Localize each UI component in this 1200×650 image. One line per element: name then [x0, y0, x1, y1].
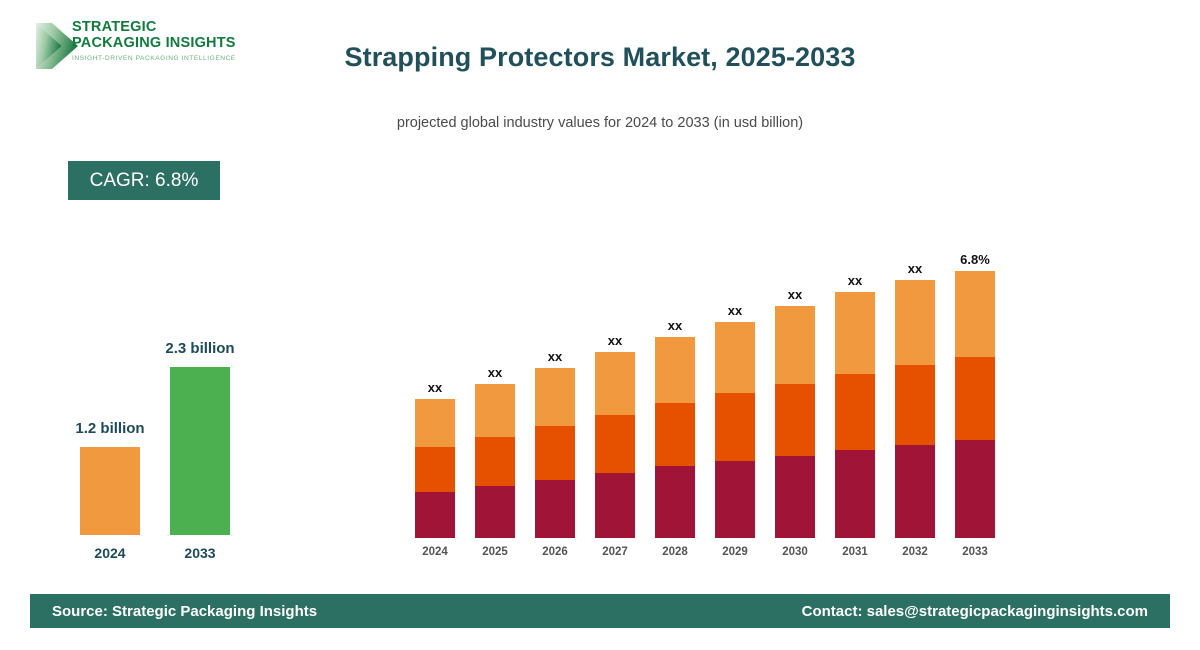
stacked-bar-segment [715, 393, 755, 462]
stacked-bar-group: xx2026 [535, 350, 575, 560]
stacked-bar-segment [955, 440, 995, 538]
endpoint-comparison-chart: 1.2 billion20242.3 billion2033 [60, 300, 260, 565]
stacked-bar-segment [775, 384, 815, 456]
page-title: Strapping Protectors Market, 2025-2033 [0, 42, 1200, 73]
stacked-bar [655, 337, 695, 538]
stacked-bar-group: xx2027 [595, 334, 635, 560]
stacked-bar-segment [475, 486, 515, 538]
stacked-bar-segment [835, 374, 875, 450]
stacked-bar-year-label: 2028 [645, 546, 705, 558]
stacked-bar-group: xx2025 [475, 366, 515, 560]
logo-line-1: STRATEGIC [72, 20, 236, 36]
cagr-badge: CAGR: 6.8% [68, 161, 220, 200]
stacked-bar-segment [415, 447, 455, 491]
comparison-bar-value-label: 1.2 billion [30, 420, 190, 437]
stacked-bar-segment [835, 450, 875, 538]
stacked-bar-group: xx2031 [835, 274, 875, 560]
comparison-bar-year-label: 2033 [170, 545, 230, 561]
stacked-bar-segment [535, 480, 575, 538]
stacked-bar-segment [715, 322, 755, 393]
stacked-bar-segment [655, 337, 695, 403]
stacked-bar-segment [775, 306, 815, 384]
comparison-bar-year-label: 2024 [80, 545, 140, 561]
stacked-bar-year-label: 2025 [465, 546, 525, 558]
stacked-bar [715, 322, 755, 538]
stacked-bar [535, 368, 575, 538]
stacked-bar-segment [775, 456, 815, 538]
stacked-bar [895, 280, 935, 538]
stacked-bar-year-label: 2032 [885, 546, 945, 558]
comparison-bar [170, 367, 230, 535]
stacked-bar-value-label: xx [695, 303, 775, 318]
stacked-bar-value-label: xx [515, 349, 595, 364]
stacked-bar-segment [955, 271, 995, 357]
stacked-bar-year-label: 2031 [825, 546, 885, 558]
stacked-bar-segment [595, 415, 635, 473]
stacked-bar-segment [835, 292, 875, 374]
stacked-bar-value-label: xx [575, 333, 655, 348]
comparison-bar [80, 447, 140, 535]
stacked-bar-group: 6.8%2033 [955, 253, 995, 560]
stacked-bar [775, 306, 815, 538]
page-subtitle: projected global industry values for 202… [0, 115, 1200, 131]
stacked-bar-segment [415, 492, 455, 538]
comparison-bar-group: 1.2 billion [80, 443, 140, 535]
stacked-bar-segment [475, 437, 515, 486]
stacked-bar-segment [475, 384, 515, 437]
stacked-bar-value-label: xx [755, 287, 835, 302]
stacked-bar-year-label: 2030 [765, 546, 825, 558]
stacked-bar-year-label: 2033 [945, 546, 1005, 558]
comparison-bar-value-label: 2.3 billion [120, 340, 280, 357]
stacked-bar-segment [595, 352, 635, 415]
comparison-bar-group: 2.3 billion [170, 363, 230, 535]
stacked-bar-segment [895, 445, 935, 538]
stacked-bar-segment [415, 399, 455, 448]
stacked-bar-segment [655, 403, 695, 466]
stacked-bar-segment [895, 280, 935, 365]
stacked-bar [595, 352, 635, 538]
stacked-bar-group: xx2024 [415, 381, 455, 560]
stacked-bar-segment [655, 466, 695, 538]
stacked-bar-segment [595, 473, 635, 538]
stacked-bar-segment [955, 357, 995, 441]
stacked-bar-value-label: xx [635, 318, 715, 333]
stacked-bar-value-label: 6.8% [935, 252, 1015, 267]
stacked-bar-segment [535, 426, 575, 479]
stacked-bar [475, 384, 515, 538]
stacked-bar [415, 399, 455, 538]
stacked-bar [835, 292, 875, 538]
stacked-bar-year-label: 2026 [525, 546, 585, 558]
stacked-bar-group: xx2029 [715, 304, 755, 560]
stacked-bar-group: xx2030 [775, 288, 815, 560]
stacked-bar-value-label: xx [395, 380, 475, 395]
footer-contact: Contact: sales@strategicpackaginginsight… [802, 603, 1148, 620]
projected-stacked-forecast-chart: xx2024xx2025xx2026xx2027xx2028xx2029xx20… [400, 200, 1020, 560]
stacked-bar-group: xx2032 [895, 262, 935, 560]
footer-source: Source: Strategic Packaging Insights [52, 603, 317, 620]
stacked-bar-group: xx2028 [655, 319, 695, 560]
stacked-bar-segment [715, 461, 755, 538]
stacked-bar-year-label: 2024 [405, 546, 465, 558]
stacked-bar-value-label: xx [455, 365, 535, 380]
stacked-bar-year-label: 2027 [585, 546, 645, 558]
stacked-bar-segment [895, 365, 935, 445]
stacked-bar [955, 271, 995, 538]
stacked-bar-year-label: 2029 [705, 546, 765, 558]
footer-bar: Source: Strategic Packaging Insights Con… [30, 594, 1170, 628]
stacked-bar-segment [535, 368, 575, 426]
